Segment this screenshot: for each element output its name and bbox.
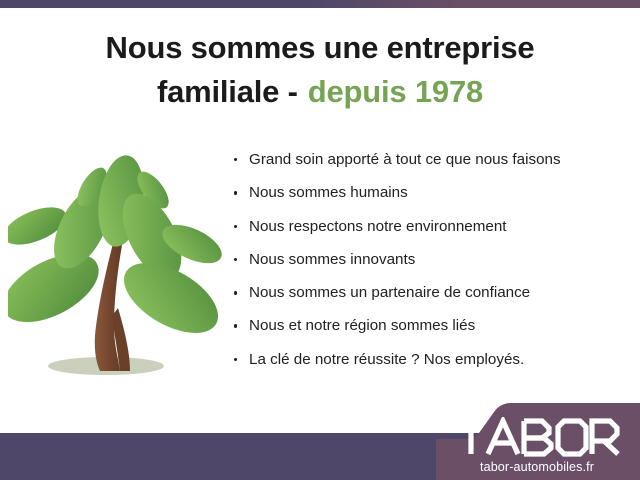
list-item: Nous respectons notre environnement <box>232 217 632 237</box>
bullet-dot-icon <box>234 291 237 294</box>
value-proposition-list: Grand soin apporté à tout ce que nous fa… <box>232 150 632 383</box>
list-item: La clé de notre réussite ? Nos employés. <box>232 350 632 370</box>
list-item-label: La clé de notre réussite ? Nos employés. <box>249 351 524 368</box>
list-item-label: Nous sommes humains <box>249 184 408 201</box>
list-item-label: Nous respectons notre environnement <box>249 218 507 235</box>
top-accent-bar <box>0 0 640 8</box>
logo-website-url: tabor-automobiles.fr <box>446 461 628 474</box>
list-item: Nous et notre région sommes liés <box>232 316 632 336</box>
list-item-label: Nous et notre région sommes liés <box>249 317 475 334</box>
bullet-dot-icon <box>234 225 237 228</box>
list-item: Nous sommes un partenaire de confiance <box>232 283 632 303</box>
tree-illustration <box>8 148 224 392</box>
title-accent-since: depuis 1978 <box>308 74 483 109</box>
bullet-dot-icon <box>234 324 237 327</box>
title-line-2-plain: familiale - <box>157 74 298 109</box>
list-item: Grand soin apporté à tout ce que nous fa… <box>232 150 632 170</box>
brand-logo[interactable]: tabor-automobiles.fr <box>446 417 628 474</box>
title-line-2: familiale -depuis 1978 <box>0 70 640 114</box>
list-item: Nous sommes humains <box>232 183 632 203</box>
bullet-dot-icon <box>234 191 237 194</box>
logo-wordmark <box>446 417 628 457</box>
page-title: Nous sommes une entreprise familiale -de… <box>0 26 640 114</box>
bullet-dot-icon <box>234 258 237 261</box>
slide-canvas: Nous sommes une entreprise familiale -de… <box>0 0 640 480</box>
list-item: Nous sommes innovants <box>232 250 632 270</box>
list-item-label: Nous sommes innovants <box>249 251 415 268</box>
list-item-label: Grand soin apporté à tout ce que nous fa… <box>249 151 561 168</box>
title-line-1: Nous sommes une entreprise <box>0 26 640 70</box>
list-item-label: Nous sommes un partenaire de confiance <box>249 284 530 301</box>
bullet-dot-icon <box>234 158 237 161</box>
bullet-dot-icon <box>234 358 237 361</box>
